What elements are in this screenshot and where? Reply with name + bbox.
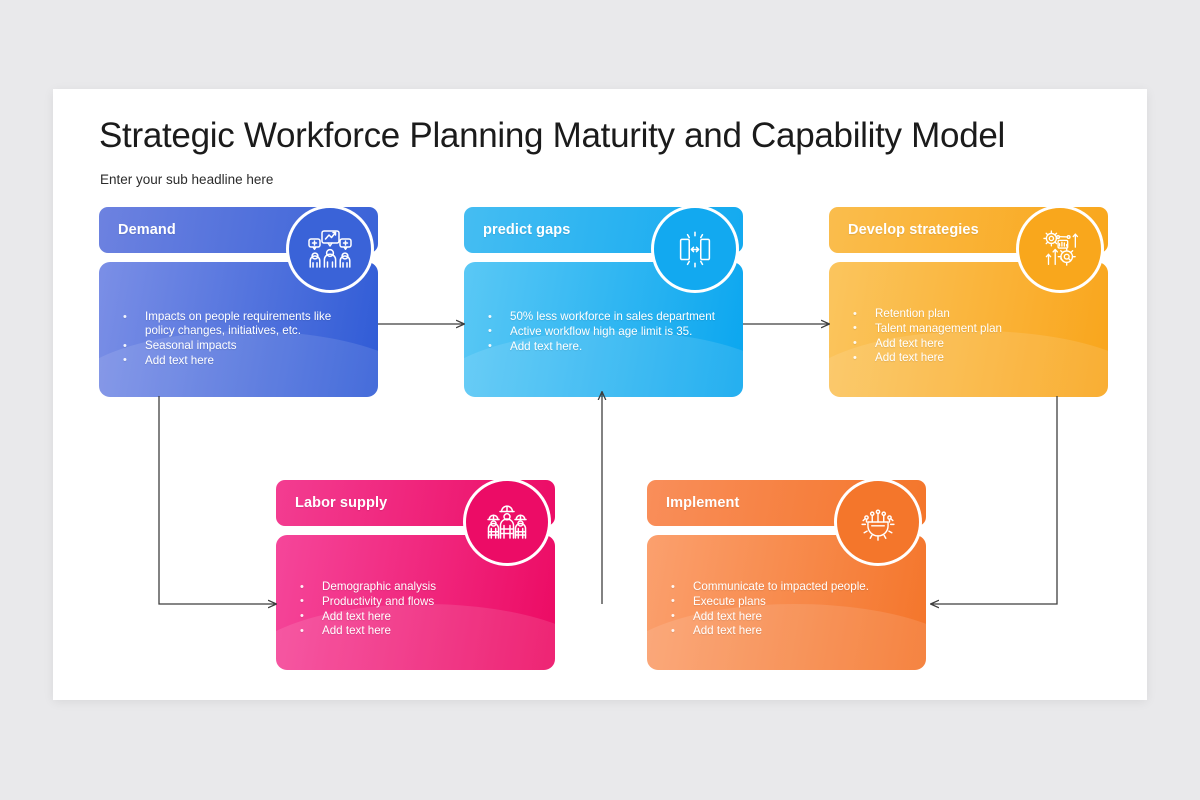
list-item: Demographic analysis [297,580,541,594]
card-implement[interactable]: Implement Communicate to impacted people… [647,480,926,670]
list-item: Add text here [297,610,541,624]
arrow-develop-strategies-to-implement [931,396,1057,604]
list-item: Productivity and flows [297,595,541,609]
list-item: Add text here [668,624,912,638]
card-demand-bullets: Impacts on people requirements like poli… [120,310,364,369]
list-item: Talent management plan [850,322,1094,336]
strategy-gears-icon [1037,226,1083,272]
card-develop-strategies[interactable]: Develop strategies Retention plan Talent… [829,207,1108,397]
card-implement-title: Implement [666,495,739,511]
list-item: Retention plan [850,307,1094,321]
list-item: Add text here [297,624,541,638]
list-item: Add text here. [485,340,729,354]
card-develop-strategies-icon-badge[interactable] [1016,205,1104,293]
card-demand[interactable]: Demand Impacts on people requirements li… [99,207,378,397]
card-predict-gaps-bullets: 50% less workforce in sales department A… [485,310,729,354]
card-labor-supply-bullets: Demographic analysis Productivity and fl… [297,580,541,639]
page-title: Strategic Workforce Planning Maturity an… [99,116,1005,156]
list-item: Add text here [668,610,912,624]
people-chart-icon [306,225,354,273]
card-labor-supply-icon-badge[interactable] [463,478,551,566]
workers-group-icon [483,498,531,546]
list-item: Seasonal impacts [120,339,364,353]
gap-measure-icon [672,226,718,272]
card-labor-supply[interactable]: Labor supply Demographic analysis Produc… [276,480,555,670]
gear-circuit-icon [855,499,901,545]
card-demand-title: Demand [118,222,176,238]
card-implement-bullets: Communicate to impacted people. Execute … [668,580,912,639]
list-item: Add text here [850,337,1094,351]
list-item: 50% less workforce in sales department [485,310,729,324]
card-develop-strategies-bullets: Retention plan Talent management plan Ad… [850,307,1094,366]
slide-canvas: Strategic Workforce Planning Maturity an… [53,89,1147,700]
list-item: Execute plans [668,595,912,609]
list-item: Add text here [850,351,1094,365]
list-item: Impacts on people requirements like poli… [120,310,364,338]
list-item: Add text here [120,354,364,368]
card-implement-icon-badge[interactable] [834,478,922,566]
card-demand-icon-badge[interactable] [286,205,374,293]
arrow-demand-to-labor-supply [159,396,276,604]
page-subtitle: Enter your sub headline here [100,172,273,187]
list-item: Active workflow high age limit is 35. [485,325,729,339]
card-develop-strategies-title: Develop strategies [848,222,979,238]
card-predict-gaps-icon-badge[interactable] [651,205,739,293]
card-predict-gaps-title: predict gaps [483,222,570,238]
card-labor-supply-title: Labor supply [295,495,387,511]
list-item: Communicate to impacted people. [668,580,912,594]
card-predict-gaps[interactable]: predict gaps 50% less workforce in sales… [464,207,743,397]
